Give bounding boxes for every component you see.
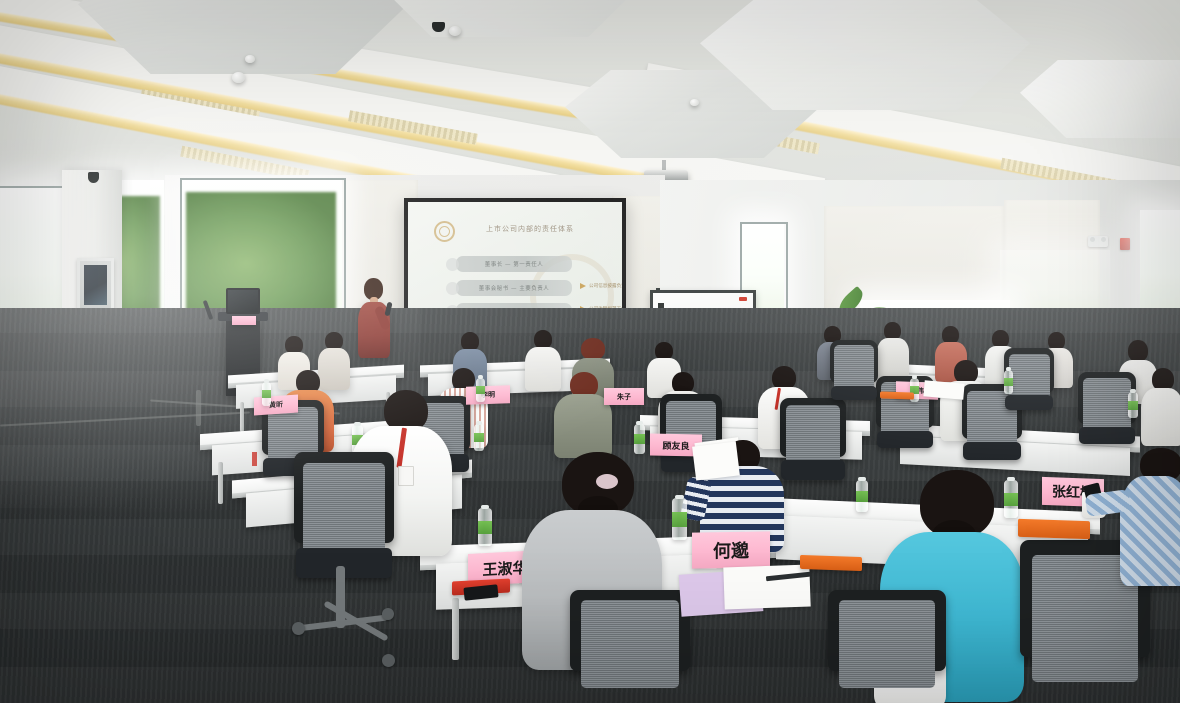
slide-title: 上市公司内部的责任体系 <box>486 224 574 234</box>
orange-notebook <box>1018 519 1090 540</box>
ceiling-smoke-detector <box>690 99 699 106</box>
water-bottle <box>478 508 492 546</box>
badge <box>398 466 414 486</box>
presenter <box>354 278 396 360</box>
name-card-text: 朱子 <box>617 392 631 402</box>
table-leg <box>218 462 223 504</box>
emergency-light <box>1088 236 1108 247</box>
handout-paper <box>723 565 810 610</box>
wall-control-display[interactable] <box>77 258 114 312</box>
slide-bullet-bar: 董事会秘书 — 主要负责人 <box>456 280 572 296</box>
hexagonal-ceiling-panel <box>1020 60 1180 138</box>
name-card: 李明 <box>466 385 510 405</box>
hair-clip <box>596 474 618 489</box>
handheld-microphone <box>384 302 392 317</box>
slide-bullet-knob <box>446 258 459 271</box>
slide-bullet-knob <box>446 282 459 295</box>
name-card: 朱子 <box>604 388 644 405</box>
security-camera-icon <box>88 172 99 183</box>
water-bottle <box>476 378 485 402</box>
attendee <box>1140 368 1180 444</box>
slide-bullet-bar: 董事长 — 第一责任人 <box>456 256 572 272</box>
ceiling-smoke-detector <box>245 55 255 63</box>
name-card-text: 何邈 <box>713 537 749 564</box>
name-card: 何邈 <box>692 531 770 568</box>
attendee <box>552 372 614 456</box>
handout-paper <box>923 380 964 399</box>
office-chair[interactable] <box>570 590 690 703</box>
name-card-text: 顾友良 <box>662 438 689 451</box>
office-chair[interactable] <box>780 398 846 480</box>
ceiling-camera-dome <box>449 26 461 36</box>
slide-bullet-text: 董事长 — 第一责任人 <box>485 260 544 268</box>
handout-paper <box>692 441 740 480</box>
arrow-right-icon <box>580 283 586 289</box>
water-bottle <box>856 480 868 512</box>
table-leg <box>452 598 459 660</box>
water-bottle <box>1004 370 1013 394</box>
hexagonal-ceiling-panel <box>370 0 650 37</box>
water-bottle <box>1128 392 1138 418</box>
attendee-torso <box>1141 388 1180 446</box>
orange-notebook <box>880 391 914 399</box>
slide-annotation: 公司信息披露负责 <box>580 283 622 289</box>
water-bottle <box>474 424 484 451</box>
attendee <box>232 388 302 488</box>
orange-notebook <box>800 555 862 571</box>
chair-caster <box>292 622 305 635</box>
attendee-head <box>581 338 605 360</box>
ceiling-speaker-dome <box>232 72 245 83</box>
lectern-name-card <box>232 316 256 325</box>
slide-annotation-text: 公司信息披露负责 <box>589 283 622 289</box>
water-bottle <box>634 424 645 454</box>
water-bottle <box>672 498 687 540</box>
attendee-head <box>1128 340 1148 362</box>
office-chair[interactable] <box>294 452 394 578</box>
fire-alarm-box[interactable] <box>1120 238 1130 250</box>
slide-logo-icon <box>434 221 455 242</box>
floor-cable <box>196 390 201 426</box>
slide-bullet-text: 董事会秘书 — 主要负责人 <box>479 284 550 292</box>
chair-caster <box>382 654 395 667</box>
attendee-torso <box>877 338 909 378</box>
attendee <box>876 322 910 376</box>
lectern-monitor <box>226 288 260 314</box>
attendee-torso <box>1120 476 1180 586</box>
attendee-checked-shirt <box>1120 456 1180 586</box>
chair-caster <box>382 608 394 620</box>
office-chair[interactable] <box>830 340 878 400</box>
whiteboard-marker <box>739 297 747 301</box>
training-room-photo: 上市公司内部的责任体系 董事长 — 第一责任人 董事会秘书 — 主要负责人 公司… <box>0 0 1180 703</box>
water-bottle <box>1004 480 1018 518</box>
office-chair[interactable] <box>828 590 946 703</box>
